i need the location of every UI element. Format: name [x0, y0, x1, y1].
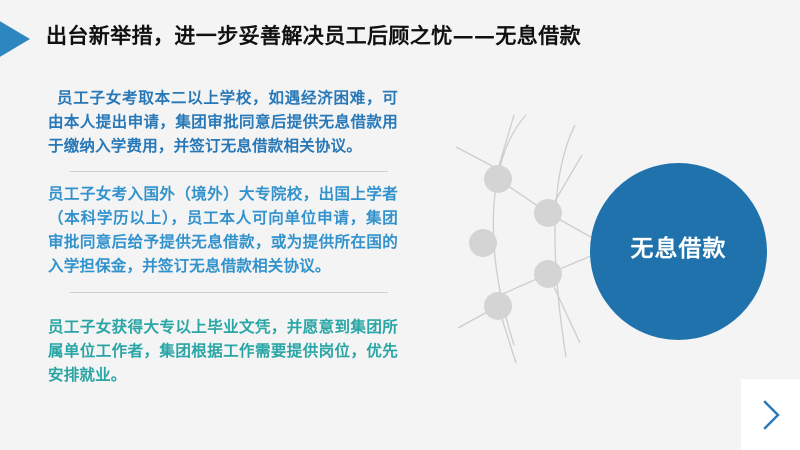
network-node: [534, 260, 562, 288]
paragraph-divider-1: [70, 171, 388, 172]
slide-title-row: 出台新举措，进一步妥善解决员工后顾之忧——无息借款: [0, 14, 800, 64]
network-node: [534, 199, 562, 227]
policy-paragraph-2: 员工子女考入国外（境外）大专院校，出国上学者（本科学历以上），员工本人可向单位申…: [48, 182, 398, 278]
paragraph-divider-2: [70, 292, 388, 293]
network-node: [484, 292, 512, 320]
hub-circle: 无息借款: [590, 163, 767, 340]
next-slide-button[interactable]: [741, 379, 800, 450]
hub-label: 无息借款: [631, 238, 727, 261]
policy-paragraph-1: 员工子女考取本二以上学校，如遇经济困难，可由本人提出申请，集团审批同意后提供无息…: [48, 86, 398, 160]
network-nodes: [469, 165, 562, 320]
chevron-right-icon: [759, 398, 783, 432]
policy-paragraph-3: 员工子女获得大专以上毕业文凭，并愿意到集团所属单位工作者，集团根据工作需要提供岗…: [48, 315, 398, 387]
triangle-marker-icon: [0, 20, 30, 58]
network-node: [469, 229, 497, 257]
page-title: 出台新举措，进一步妥善解决员工后顾之忧——无息借款: [46, 14, 581, 58]
network-node: [484, 165, 512, 193]
slide-canvas: 出台新举措，进一步妥善解决员工后顾之忧——无息借款 员工子女考取本二以上学校，如…: [0, 0, 800, 450]
content-text-column: 员工子女考取本二以上学校，如遇经济困难，可由本人提出申请，集团审批同意后提供无息…: [48, 86, 398, 387]
